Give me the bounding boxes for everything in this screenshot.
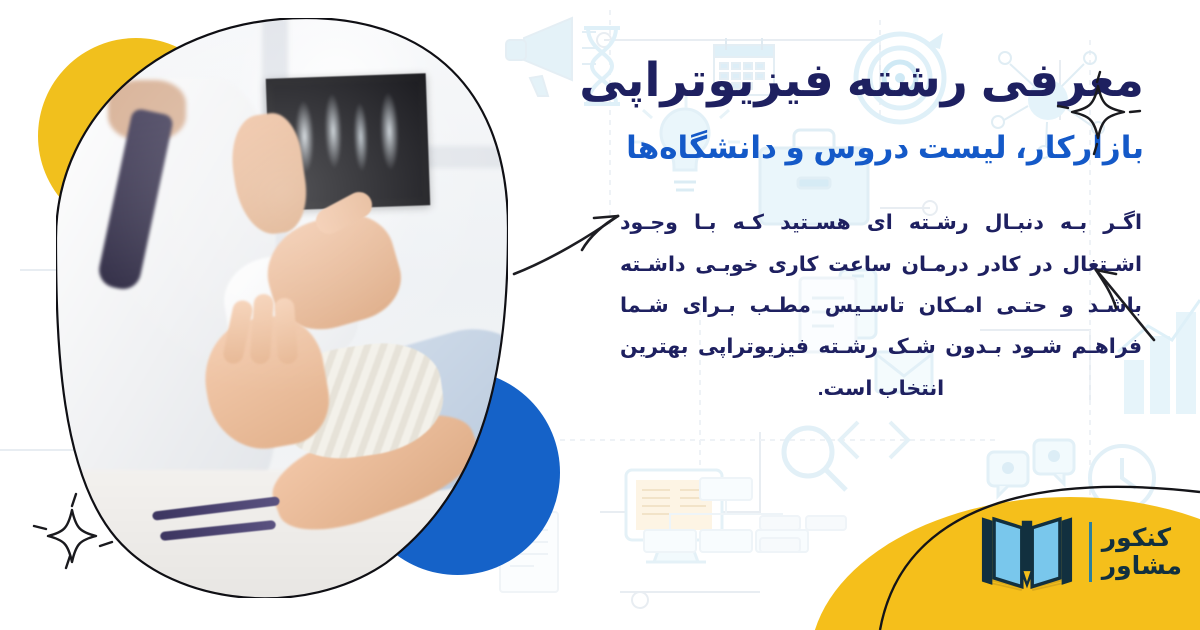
logo-line-1: کنکور	[1102, 524, 1171, 552]
logo-line-2: مشاور	[1102, 552, 1182, 580]
logo-wordmark: کنکور مشاور	[1102, 524, 1182, 580]
chat-bubbles-icon	[988, 440, 1074, 496]
brand-logo[interactable]: کنکور مشاور	[975, 508, 1182, 596]
code-icon	[840, 422, 908, 458]
page-title: معرفی رشته فیزیوتراپی	[572, 52, 1172, 107]
text-column: معرفی رشته فیزیوتراپی بازارکار، لیست درو…	[572, 52, 1172, 409]
page-subtitle: بازارکار، لیست دروس و دانشگاه‌ها	[572, 129, 1144, 168]
monitor-icon	[626, 470, 722, 562]
org-chart-icon	[644, 478, 808, 552]
body-paragraph: اگـر بـه دنبـال رشـته ای هسـتید کـه بـا …	[620, 202, 1142, 409]
logo-divider	[1089, 522, 1092, 582]
search-icon	[784, 428, 846, 490]
open-book-pencil-icon	[975, 508, 1079, 596]
promo-banner: معرفی رشته فیزیوتراپی بازارکار، لیست درو…	[0, 0, 1200, 630]
